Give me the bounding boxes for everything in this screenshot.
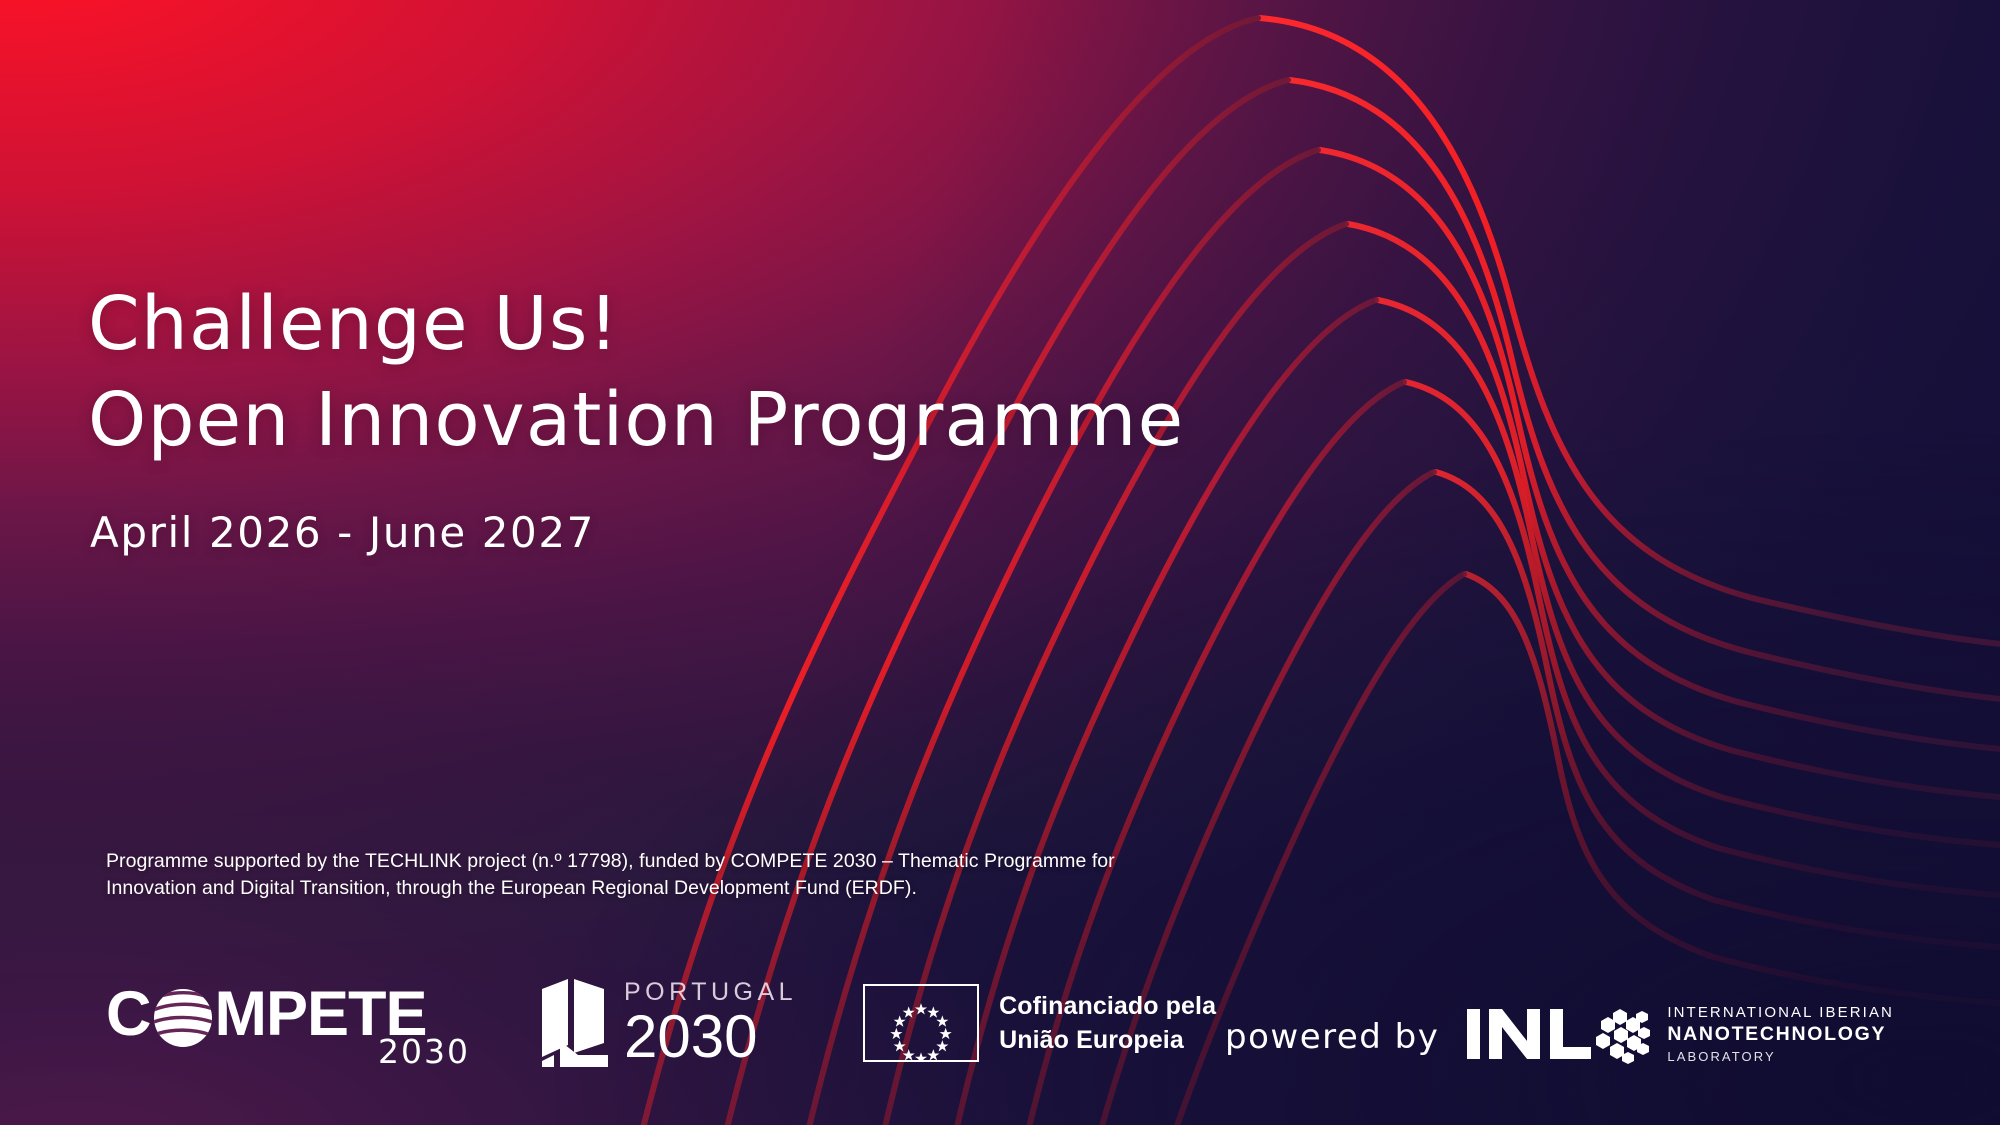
inl-tagline-line-2: NANOTECHNOLOGY (1667, 1025, 1894, 1045)
portugal-chevron-icon (538, 977, 612, 1069)
promo-banner: Challenge Us! Open Innovation Programme … (0, 0, 2000, 1125)
eu-cofunding-logo: Cofinanciado pela União Europeia (863, 973, 1216, 1073)
compete-year: 2030 (378, 1032, 470, 1071)
headline-line-2: Open Innovation Programme (88, 372, 1184, 468)
disclaimer-line-1: Programme supported by the TECHLINK proj… (106, 848, 1286, 875)
inl-wordmark-icon (1465, 997, 1657, 1069)
date-range-subheading: April 2026 - June 2027 (90, 508, 595, 557)
disclaimer-line-2: Innovation and Digital Transition, throu… (106, 875, 1286, 902)
compete-letter-c: C (106, 983, 151, 1046)
eu-text-line-1: Cofinanciado pela (999, 989, 1216, 1023)
funding-disclaimer: Programme supported by the TECHLINK proj… (106, 848, 1286, 902)
page-title: Challenge Us! Open Innovation Programme (88, 276, 1184, 468)
inl-tagline: INTERNATIONAL IBERIAN NANOTECHNOLOGY LAB… (1667, 1005, 1894, 1063)
eu-flag-stars-icon (863, 984, 979, 1062)
powered-by-label: powered by (1225, 1017, 1439, 1057)
portugal-2030-logo: PORTUGAL 2030 (538, 973, 797, 1073)
powered-by-inl: powered by (1225, 997, 1894, 1069)
portugal-year: 2030 (624, 1007, 797, 1067)
inl-tagline-line-1: INTERNATIONAL IBERIAN (1667, 1005, 1894, 1020)
portugal-label: PORTUGAL (624, 980, 797, 1005)
eu-text-line-2: União Europeia (999, 1023, 1216, 1057)
portugal-text-block: PORTUGAL 2030 (624, 980, 797, 1067)
inl-logo: INTERNATIONAL IBERIAN NANOTECHNOLOGY LAB… (1465, 997, 1894, 1069)
background-vignette (0, 0, 2000, 1125)
eu-cofunding-text: Cofinanciado pela União Europeia (999, 989, 1216, 1057)
headline-line-1: Challenge Us! (88, 276, 1184, 372)
compete-2030-logo: C MPETE (106, 979, 476, 1067)
inl-tagline-line-3: LABORATORY (1667, 1050, 1894, 1063)
globe-icon (152, 987, 214, 1049)
funder-logo-row: C MPETE (106, 973, 1216, 1073)
